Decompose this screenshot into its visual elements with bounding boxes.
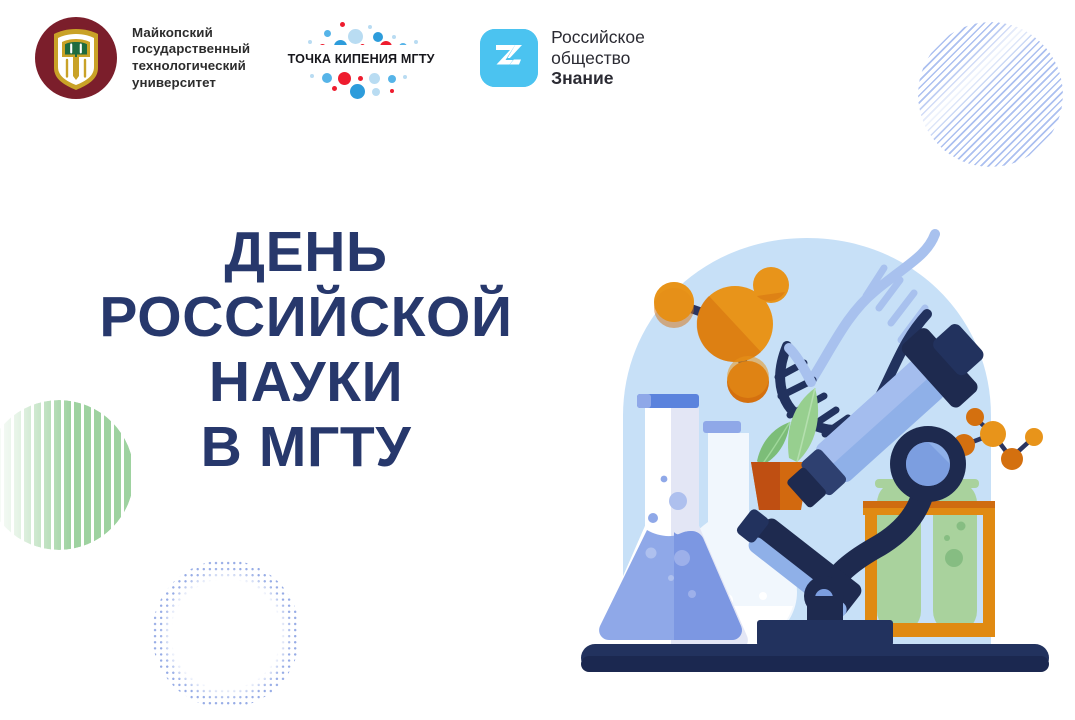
logo-mgtu-label: Майкопский государственный технологическ… [132, 25, 250, 91]
boiling-point-bubbles-icon: ТОЧКА КИПЕНИЯ МГТУ [272, 16, 450, 100]
logo-tochka-kipeniya-label: ТОЧКА КИПЕНИЯ МГТУ [288, 52, 435, 66]
znanie-line-3: Знание [551, 68, 645, 89]
mgtu-shield-book-emblem-icon [34, 16, 118, 100]
striped-circle-blue-decoration [918, 22, 1063, 167]
logo-znanie: Российское общество Знание [480, 27, 645, 89]
dot-ring-decoration [152, 560, 300, 708]
logo-mgtu: Майкопский государственный технологическ… [34, 16, 250, 100]
page-title: ДЕНЬ РОССИЙСКОЙ НАУКИ В МГТУ [26, 220, 586, 480]
logo-bar: Майкопский государственный технологическ… [34, 16, 645, 100]
science-lab-illustration [575, 196, 1055, 676]
znanie-z-lightning-icon [480, 29, 538, 87]
logo-tochka-kipeniya: ТОЧКА КИПЕНИЯ МГТУ [272, 16, 450, 100]
tochka-kipeniya-band: ТОЧКА КИПЕНИЯ МГТУ [274, 45, 448, 72]
znanie-line-1: Российское [551, 27, 645, 47]
znanie-line-2: общество [551, 48, 630, 68]
poster-canvas: Майкопский государственный технологическ… [0, 0, 1075, 720]
logo-znanie-label: Российское общество Знание [551, 27, 645, 89]
